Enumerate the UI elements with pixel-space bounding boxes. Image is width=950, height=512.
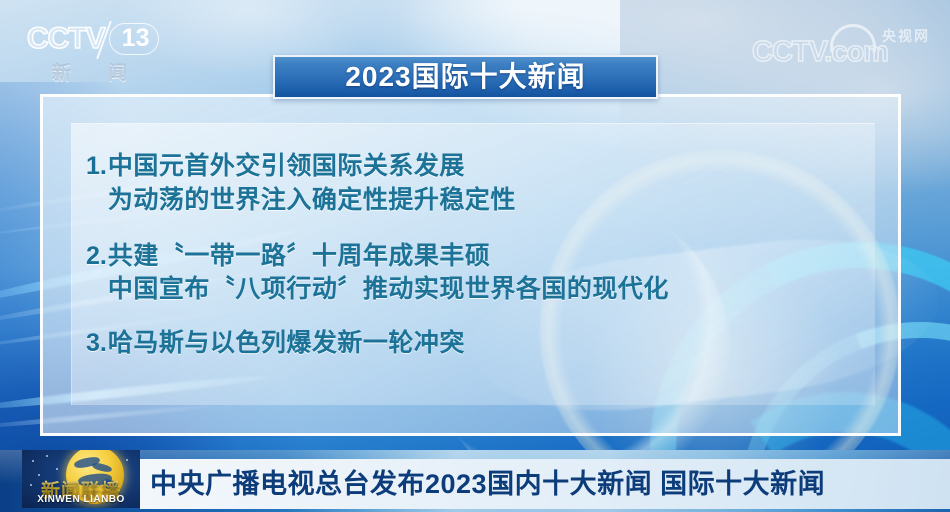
list-item: 2. 共建〝一带一路〞十周年成果丰硕 中国宣布〝八项行动〞推动实现世界各国的现代…	[86, 240, 846, 308]
channel-label: 新 闻	[52, 58, 143, 85]
cctv13-logo: CCTV 13	[27, 22, 159, 56]
list-item-text: 哈马斯与以色列爆发新一轮冲突	[108, 327, 465, 361]
news-list: 1. 中国元首外交引领国际关系发展 为动荡的世界注入确定性提升稳定性 2. 共建…	[86, 150, 846, 361]
broadcast-screen: CCTV 13 新 闻 CCTV.com 央视网 2023国际十大新闻 1. 中…	[0, 0, 950, 512]
list-item: 3. 哈马斯与以色列爆发新一轮冲突	[86, 327, 846, 361]
headline-text: 中央广播电视总台发布2023国内十大新闻 国际十大新闻	[150, 471, 825, 498]
channel-number: 13	[122, 24, 150, 52]
watermark-cn-text: 央视网	[882, 26, 930, 46]
xinwen-lianbo-logo: 新闻联播 XINWEN LIANBO	[22, 450, 140, 508]
list-item-number: 2.	[86, 240, 107, 273]
list-item-line: 哈马斯与以色列爆发新一轮冲突	[108, 327, 465, 361]
list-item-line: 共建〝一带一路〞十周年成果丰硕	[108, 240, 669, 274]
channel-number-badge: 13	[109, 23, 160, 54]
list-item-number: 3.	[86, 327, 107, 360]
star-icon	[46, 455, 48, 457]
list-item-line: 中国元首外交引领国际关系发展	[108, 150, 516, 184]
cctv-wordmark: CCTV	[27, 24, 105, 54]
star-icon	[56, 468, 58, 470]
slide-title-bar: 2023国际十大新闻	[273, 55, 658, 99]
headline-strip: 中央广播电视总台发布2023国内十大新闻 国际十大新闻	[140, 459, 950, 509]
list-item-line: 为动荡的世界注入确定性提升稳定性	[108, 184, 516, 218]
cctv-com-watermark: CCTV.com 央视网	[752, 18, 932, 70]
list-item: 1. 中国元首外交引领国际关系发展 为动荡的世界注入确定性提升稳定性	[86, 150, 846, 218]
list-item-number: 1.	[86, 150, 107, 183]
slide-title: 2023国际十大新闻	[345, 63, 585, 91]
star-icon	[32, 460, 34, 462]
list-item-text: 共建〝一带一路〞十周年成果丰硕 中国宣布〝八项行动〞推动实现世界各国的现代化	[108, 240, 669, 308]
star-icon	[126, 459, 128, 461]
lower-third-banner: 新闻联播 XINWEN LIANBO 中央广播电视总台发布2023国内十大新闻 …	[0, 450, 950, 512]
program-name-en: XINWEN LIANBO	[22, 494, 140, 505]
list-item-text: 中国元首外交引领国际关系发展 为动荡的世界注入确定性提升稳定性	[108, 150, 516, 218]
list-item-line: 中国宣布〝八项行动〞推动实现世界各国的现代化	[108, 273, 669, 307]
